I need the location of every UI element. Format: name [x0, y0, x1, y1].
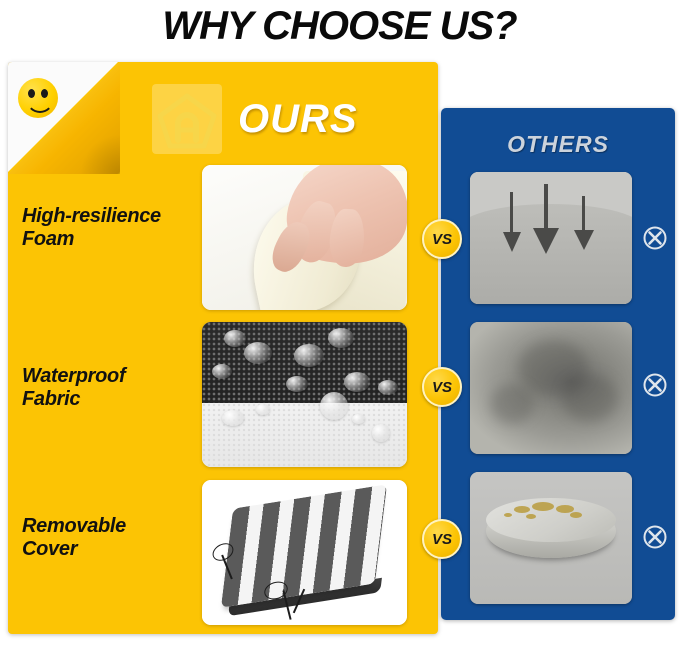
dirt-stain [570, 512, 582, 518]
dirt-stain [504, 513, 512, 517]
ours-image-cover [202, 480, 407, 625]
arrow-shaft [510, 192, 513, 234]
dirt-stain [526, 514, 536, 519]
arrow-head [574, 230, 594, 250]
vs-badge-row1: VS [422, 219, 462, 259]
others-image-sagging-fabric [470, 172, 632, 304]
arrow-head [503, 232, 521, 252]
arrow-shaft [582, 196, 585, 232]
ours-heading: OURS [238, 90, 358, 148]
vs-badge-row3: VS [422, 519, 462, 559]
water-droplet [244, 342, 272, 364]
dirt-stain [514, 506, 530, 513]
feature-label-fabric-line2: Fabric [22, 388, 197, 411]
others-image-stained-cushion [470, 472, 632, 604]
water-droplet [222, 410, 244, 426]
circle-x-icon-row3 [642, 524, 668, 550]
water-droplet [212, 364, 232, 379]
smiley-face-icon [18, 78, 58, 118]
vs-badge-row2: VS [422, 367, 462, 407]
water-droplet [256, 404, 270, 415]
house-logo-icon [152, 84, 222, 154]
water-droplet [352, 414, 365, 424]
others-heading: OTHERS [441, 126, 675, 162]
infographic-canvas: WHY CHOOSE US? OURS High-resilience Foam… [0, 0, 679, 662]
feature-label-cover: Removable Cover [22, 515, 197, 561]
arrow-head [533, 228, 559, 254]
water-droplet [320, 392, 348, 420]
smiley-mouth [26, 93, 54, 113]
feature-label-fabric: Waterproof Fabric [22, 365, 197, 411]
dirt-stain [532, 502, 554, 511]
feature-label-foam: High-resilience Foam [22, 205, 197, 251]
others-image-wet-fabric [470, 322, 632, 454]
water-droplet [378, 380, 398, 395]
feature-label-foam-line2: Foam [22, 228, 197, 251]
ours-image-foam [202, 165, 407, 310]
water-droplet [286, 376, 308, 392]
water-droplet [372, 424, 390, 442]
wet-stain [490, 384, 534, 424]
water-droplet [294, 344, 324, 367]
circle-x-icon-row2 [642, 372, 668, 398]
feature-label-cover-line1: Removable [22, 515, 197, 538]
water-droplet [344, 372, 370, 392]
wet-stain [562, 374, 618, 422]
water-droplet [224, 330, 246, 347]
ours-image-waterproof [202, 322, 407, 467]
feature-label-foam-line1: High-resilience [22, 205, 197, 228]
feature-label-fabric-line1: Waterproof [22, 365, 197, 388]
page-title: WHY CHOOSE US? [0, 0, 679, 52]
water-droplet [328, 328, 354, 348]
feature-label-cover-line2: Cover [22, 538, 197, 561]
arrow-shaft [544, 184, 548, 230]
circle-x-icon-row1 [642, 225, 668, 251]
